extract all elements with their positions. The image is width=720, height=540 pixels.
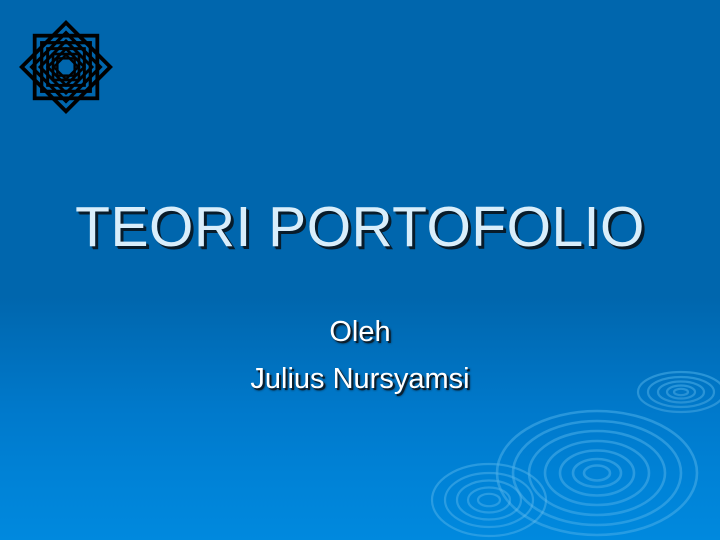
subtitle-line-author-label: Oleh: [0, 309, 720, 356]
page-title: TEORI PORTOFOLIO: [0, 196, 720, 260]
subtitle-line-author-name: Julius Nursyamsi: [0, 356, 720, 403]
presentation-slide: Universitas logo TEORI PORTOFOLIO Oleh J…: [0, 0, 720, 540]
ripple-medium-lower-left: [432, 464, 546, 536]
title-placeholder: TEORI PORTOFOLIO: [0, 196, 720, 260]
eight-pointed-star-logo: Universitas logo: [12, 9, 120, 125]
ripple-large-center: [497, 411, 697, 535]
subtitle-placeholder: Oleh Julius Nursyamsi: [0, 309, 720, 403]
